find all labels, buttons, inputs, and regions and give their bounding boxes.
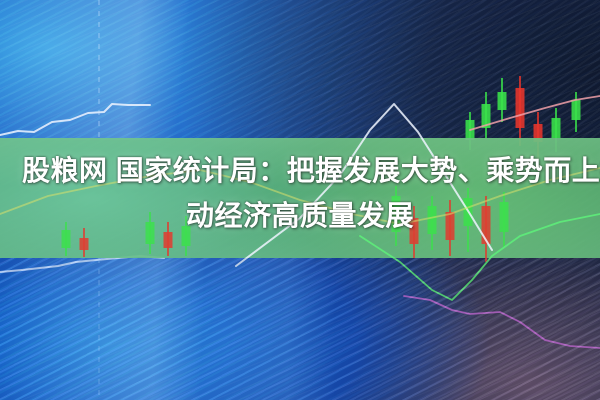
headline-block: 股粮网 国家统计局：把握发展大势、乘势而上推 动经济高质量发展	[0, 148, 600, 238]
headline-line-2: 动经济高质量发展	[14, 193, 586, 238]
candle-body	[80, 238, 89, 250]
headline-line-1: 股粮网 国家统计局：把握发展大势、乘势而上推	[14, 148, 586, 193]
banner-image: 股粮网 国家统计局：把握发展大势、乘势而上推 动经济高质量发展	[0, 0, 600, 400]
light-shafts-bottom	[0, 258, 600, 400]
